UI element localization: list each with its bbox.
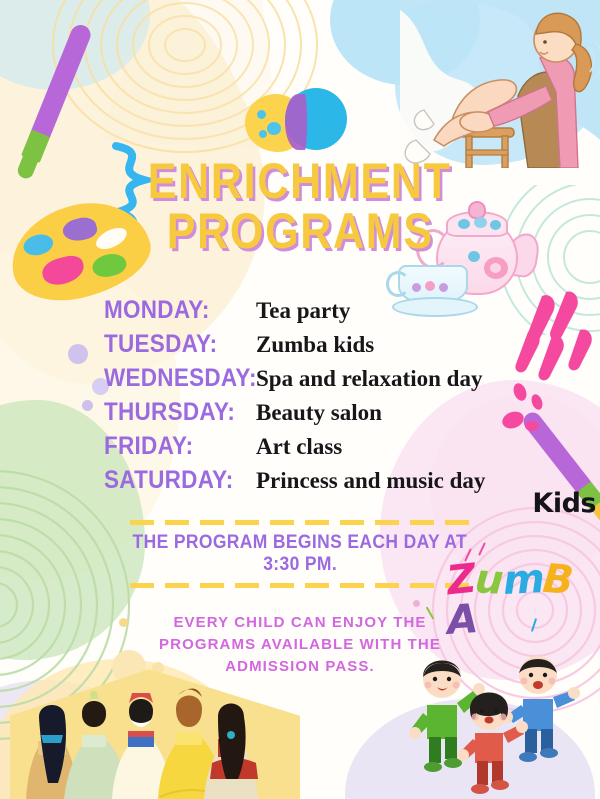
princess-group-illustration bbox=[8, 679, 258, 799]
schedule-list: Monday: Tea party Tuesday: Zumba kids We… bbox=[104, 298, 485, 502]
schedule-row: Monday: Tea party bbox=[104, 298, 485, 332]
notice-line-2: 3:30 PM. bbox=[263, 554, 337, 576]
schedule-day: Tuesday: bbox=[104, 332, 241, 357]
zumba-kids-word: Kids bbox=[401, 488, 596, 638]
pink-brush-strokes-decor bbox=[480, 290, 600, 470]
schedule-row: Tuesday: Zumba kids bbox=[104, 332, 485, 366]
jumping-kids-illustration bbox=[401, 647, 596, 797]
poster-canvas: ENRICHMENT PROGRAMS Monday: Tea party Tu… bbox=[0, 0, 600, 799]
schedule-day: Monday: bbox=[104, 298, 241, 323]
title-line-1: ENRICHMENT bbox=[148, 158, 452, 204]
page-title: ENRICHMENT PROGRAMS bbox=[0, 158, 600, 254]
kid-figure bbox=[501, 656, 580, 762]
decor-dot bbox=[82, 400, 93, 411]
title-line-2: PROGRAMS bbox=[166, 208, 433, 254]
schedule-activity: Beauty salon bbox=[256, 401, 382, 424]
spa-pedicure-illustration bbox=[400, 0, 600, 168]
schedule-day: Thursday: bbox=[104, 400, 241, 425]
schedule-activity: Tea party bbox=[256, 299, 350, 322]
schedule-day: Wednesday: bbox=[104, 366, 241, 391]
schedule-row: Thursday: Beauty salon bbox=[104, 400, 485, 434]
princess-figure bbox=[204, 704, 258, 799]
schedule-activity: Zumba kids bbox=[256, 333, 374, 356]
schedule-day: Friday: bbox=[104, 434, 241, 459]
zumba-kids-logo: ZumBA Kids bbox=[447, 560, 600, 640]
schedule-activity: Art class bbox=[256, 435, 342, 458]
schedule-activity: Spa and relaxation day bbox=[256, 367, 482, 390]
schedule-day: Saturday: bbox=[104, 468, 241, 493]
schedule-row: Wednesday: Spa and relaxation day bbox=[104, 366, 485, 400]
schedule-row: Friday: Art class bbox=[104, 434, 485, 468]
decor-dot bbox=[68, 344, 88, 364]
